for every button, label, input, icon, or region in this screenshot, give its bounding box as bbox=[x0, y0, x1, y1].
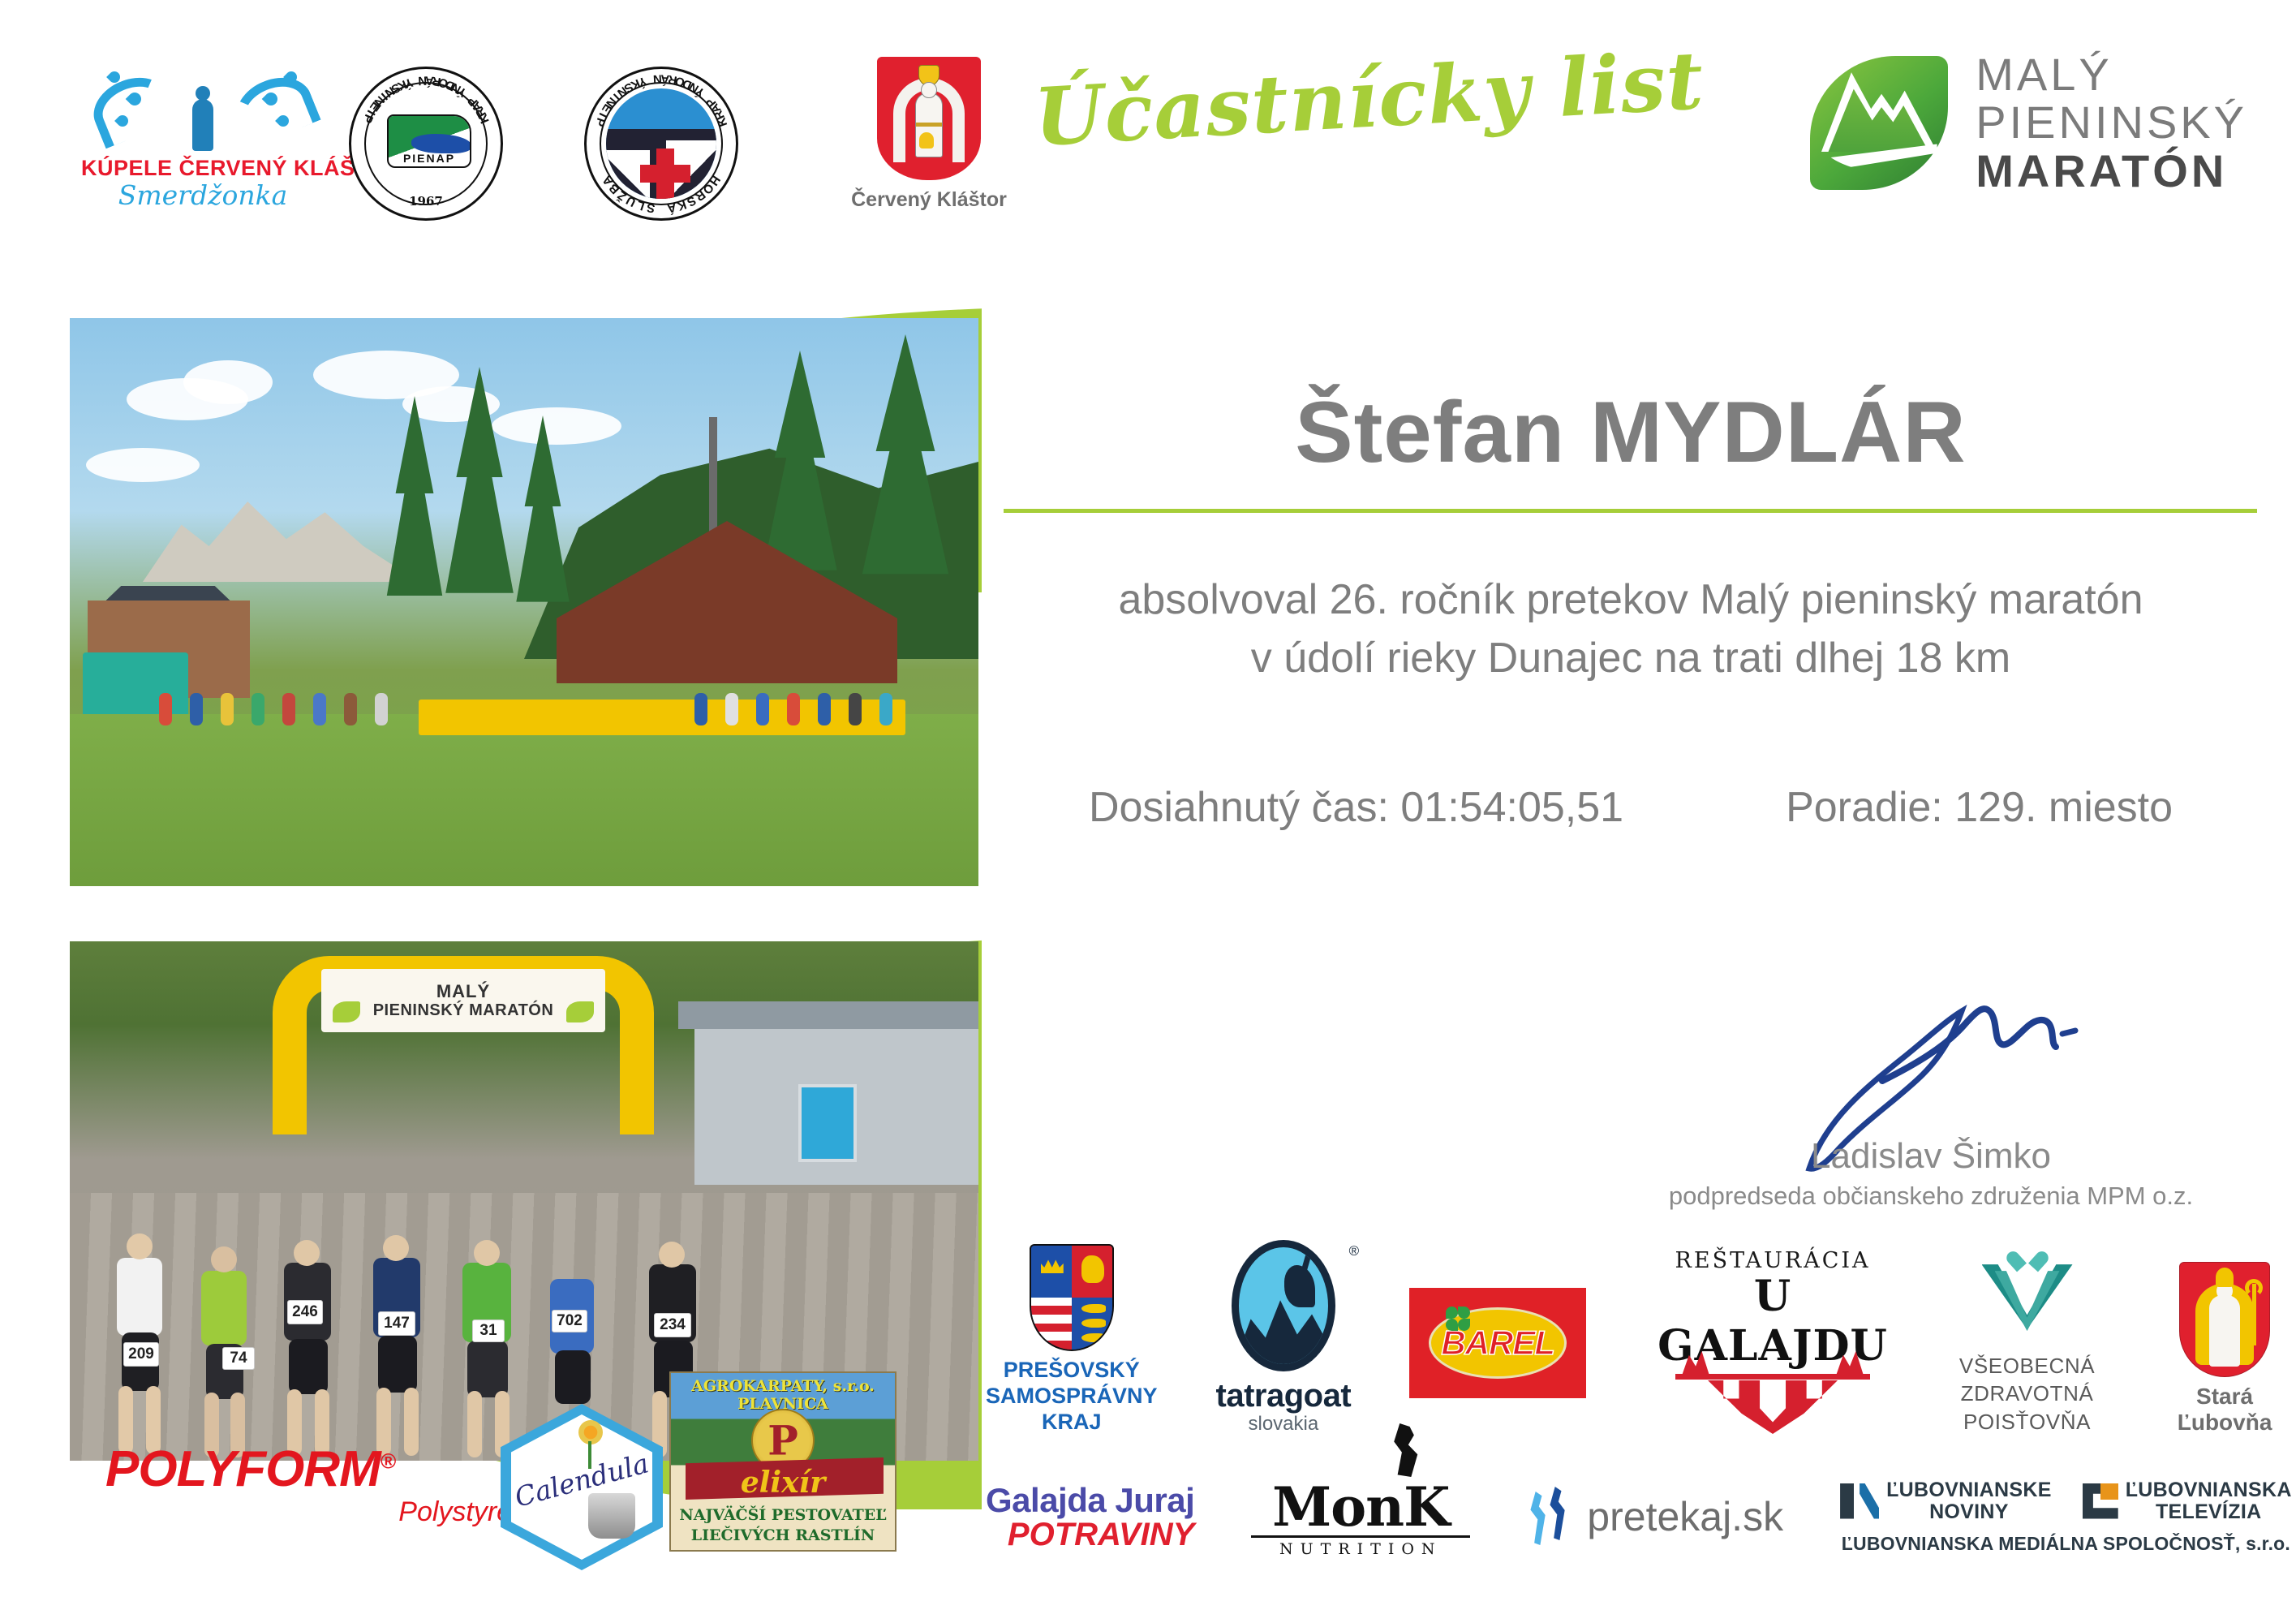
monk-wordmark: MonK bbox=[1251, 1475, 1470, 1539]
spa-wings-icon bbox=[81, 65, 325, 153]
folk-ornament-icon bbox=[1675, 1374, 1870, 1436]
page-title: Účastnícky list bbox=[1032, 34, 1706, 165]
pretekaj-wordmark: pretekaj.sk bbox=[1587, 1493, 1783, 1540]
ln-line-2: NOVINY bbox=[1886, 1501, 2052, 1523]
logo-obec-cerveny-klastor: Červený Kláštor bbox=[836, 57, 1022, 212]
stara-lubovna-coat-of-arms-icon bbox=[2179, 1262, 2270, 1377]
galajdu-wordmark: U GALAJDU bbox=[1645, 1272, 1901, 1371]
stara-lubovna-label: Stará Ľubovňa bbox=[2153, 1384, 2296, 1436]
logo-kupele-cerveny-klastor: KÚPELE ČERVENÝ KLÁŠTOR Smerdžonka bbox=[81, 65, 325, 211]
signatory-role: podpredseda občianskeho združenia MPM o.… bbox=[1623, 1182, 2239, 1211]
mortar-icon bbox=[588, 1493, 635, 1539]
vszp-line-2: ZDRAVOTNÁ bbox=[1959, 1380, 2095, 1407]
bib-number: 31 bbox=[472, 1319, 505, 1342]
elixir-wordmark: elixír bbox=[671, 1466, 895, 1500]
sponsor-row-2: Galajda Juraj POTRAVINY MonK NUTRITION p… bbox=[986, 1475, 2292, 1558]
psk-line-3: KRAJ bbox=[986, 1410, 1158, 1436]
bib-number: 209 bbox=[123, 1342, 159, 1367]
sponsor-row-1: PREŠOVSKÝ SAMOSPRÁVNY KRAJ ® tatragoat s… bbox=[986, 1240, 2296, 1436]
rank: Poradie: 129. miesto bbox=[1786, 783, 2173, 832]
logo-restauracia-u-galajdu: REŠTAURÁCIA U GALAJDU bbox=[1645, 1248, 1901, 1436]
logo-polyform: POLYFORM® Polystyrén bbox=[105, 1440, 560, 1528]
ln-line-1: ĽUBOVNIANSKE bbox=[1886, 1479, 2052, 1501]
name-divider bbox=[1004, 509, 2257, 513]
pienap-seal-icon: PIENAP 1967 PIENINSKÝ NÁRODNÝ PARK bbox=[349, 67, 503, 221]
finish-time-value: 01:54:05,51 bbox=[1400, 784, 1623, 831]
logo-presovsky-samospravny-kraj: PREŠOVSKÝ SAMOSPRÁVNY KRAJ bbox=[986, 1244, 1158, 1436]
signature-block: Ladislav Šimko podpredseda občianskeho z… bbox=[1623, 1006, 2239, 1211]
polyform-tagline: Polystyrén bbox=[105, 1496, 560, 1528]
bib-number: 246 bbox=[287, 1300, 323, 1324]
bib-number: 234 bbox=[654, 1313, 691, 1337]
finish-time: Dosiahnutý čas: 01:54:05,51 bbox=[1089, 783, 1623, 832]
lt-line-1: ĽUBOVNIANSKA bbox=[2126, 1479, 2292, 1501]
logo-barel: BAREL bbox=[1409, 1288, 1586, 1398]
agrokarpaty-foot-line2: LIEČIVÝCH RASTLÍN bbox=[671, 1526, 895, 1544]
kupele-title: KÚPELE ČERVENÝ KLÁŠTOR bbox=[81, 156, 325, 181]
agrokarpaty-title: AGROKARPATY, s.r.o. PLAVNICA bbox=[671, 1377, 895, 1413]
logo-vseobecna-zdravotna-poistovna: VŠEOBECNÁ ZDRAVOTNÁ POISŤOVŇA bbox=[1959, 1250, 2095, 1436]
logo-lubovnianske-noviny: ĽUBOVNIANSKE NOVINY bbox=[1840, 1479, 2052, 1523]
signatory-name: Ladislav Šimko bbox=[1623, 1136, 2239, 1177]
photo-panel: MALÝ PIENINSKÝ MARATÓN 209 bbox=[57, 243, 982, 1461]
logo-maly-pieninsky-maraton: MALÝ PIENINSKÝ MARATÓN bbox=[1810, 50, 2247, 195]
psk-line-2: SAMOSPRÁVNY bbox=[986, 1384, 1158, 1410]
start-arch-banner: MALÝ PIENINSKÝ MARATÓN bbox=[321, 969, 605, 1032]
kupele-subtitle: Smerdžonka bbox=[81, 179, 325, 211]
lms-footer: ĽUBOVNIANSKA MEDIÁLNA SPOLOČNOSŤ, s.r.o. bbox=[1842, 1533, 2290, 1555]
logo-horska-sluzba: PIENINSKÝ NÁRODNÝ PARKHORSKÁ SLUŽBA bbox=[584, 67, 738, 221]
vszp-chevron-heart-icon bbox=[1980, 1250, 2075, 1344]
bib-number: 74 bbox=[222, 1347, 255, 1370]
psk-coat-of-arms-icon bbox=[1030, 1244, 1114, 1351]
agrokarpaty-seal-letter: P bbox=[767, 1417, 798, 1465]
vszp-line-1: VŠEOBECNÁ bbox=[1959, 1352, 2095, 1380]
logo-pretekaj-sk: pretekaj.sk bbox=[1527, 1485, 1783, 1548]
photo-festival-grounds bbox=[70, 318, 978, 886]
clover-icon bbox=[1446, 1307, 1470, 1331]
rank-label: Poradie: bbox=[1786, 784, 1943, 831]
logo-tatragoat: ® tatragoat slovakia bbox=[1216, 1240, 1352, 1436]
partner-logo-strip: KÚPELE ČERVENÝ KLÁŠTOR Smerdžonka PIENAP… bbox=[81, 57, 957, 243]
logo-pienap: PIENAP 1967 PIENINSKÝ NÁRODNÝ PARK bbox=[349, 67, 503, 221]
logo-galajda-juraj-potraviny: Galajda Juraj POTRAVINY bbox=[986, 1481, 1194, 1553]
brand-line-1: MALÝ bbox=[1976, 50, 2247, 98]
logo-monk-nutrition: MonK NUTRITION bbox=[1251, 1475, 1470, 1558]
logo-agrokarpaty-elixir: AGROKARPATY, s.r.o. PLAVNICA P elixír NA… bbox=[669, 1371, 896, 1552]
runners-icon bbox=[1527, 1485, 1579, 1548]
tatragoat-wordmark: tatragoat bbox=[1216, 1378, 1352, 1414]
bib-number: 702 bbox=[552, 1310, 587, 1332]
result-stats: Dosiahnutý čas: 01:54:05,51 Poradie: 129… bbox=[998, 783, 2264, 832]
lt-monogram-icon bbox=[2083, 1483, 2118, 1519]
logo-lubovnianska-televizia: ĽUBOVNIANSKA TELEVÍZIA bbox=[2083, 1479, 2292, 1523]
monk-tagline: NUTRITION bbox=[1251, 1540, 1470, 1558]
certificate-page: KÚPELE ČERVENÝ KLÁŠTOR Smerdžonka PIENAP… bbox=[0, 0, 2296, 1623]
polyform-wordmark: POLYFORM bbox=[105, 1441, 381, 1497]
vszp-line-3: POISŤOVŇA bbox=[1959, 1408, 2095, 1436]
registered-mark-icon: ® bbox=[1349, 1243, 1360, 1259]
goat-mountain-icon bbox=[1232, 1240, 1335, 1371]
logo-stara-lubovna: Stará Ľubovňa bbox=[2153, 1262, 2296, 1436]
rank-value: 129. miesto bbox=[1954, 784, 2173, 831]
registered-mark-icon: ® bbox=[381, 1449, 395, 1473]
lt-line-2: TELEVÍZIA bbox=[2126, 1501, 2292, 1523]
arch-banner-line1: MALÝ bbox=[436, 981, 490, 1001]
klastor-label: Červený Kláštor bbox=[836, 188, 1022, 212]
mountain-leaf-icon bbox=[1810, 56, 1948, 190]
coat-of-arms-icon bbox=[877, 57, 981, 180]
description-line-1: absolvoval 26. ročník pretekov Malý pien… bbox=[998, 571, 2264, 630]
finish-time-label: Dosiahnutý čas: bbox=[1089, 784, 1389, 831]
agrokarpaty-foot-line1: NAJVÄČŠÍ PESTOVATEĽ bbox=[671, 1506, 895, 1524]
horska-sluzba-seal-icon: PIENINSKÝ NÁRODNÝ PARKHORSKÁ SLUŽBA bbox=[584, 67, 738, 221]
logo-calendula: Calendula bbox=[501, 1404, 663, 1570]
certificate-description: absolvoval 26. ročník pretekov Malý pien… bbox=[998, 571, 2264, 688]
arch-banner-line2: PIENINSKÝ MARATÓN bbox=[373, 1001, 554, 1020]
brand-line-3: MARATÓN bbox=[1976, 147, 2247, 195]
galajda-juraj-tagline: POTRAVINY bbox=[986, 1517, 1194, 1553]
brand-line-2: PIENINSKÝ bbox=[1976, 98, 2247, 146]
bib-number: 147 bbox=[378, 1311, 415, 1336]
psk-line-1: PREŠOVSKÝ bbox=[986, 1358, 1158, 1384]
galajda-juraj-name: Galajda Juraj bbox=[986, 1481, 1194, 1520]
logo-lubovnianska-medialna-spolocnost: ĽUBOVNIANSKE NOVINY ĽUBOVNIANSKA TELEVÍZ… bbox=[1840, 1479, 2292, 1555]
ln-monogram-icon bbox=[1840, 1483, 1879, 1519]
galajdu-top-label: REŠTAURÁCIA bbox=[1645, 1248, 1901, 1273]
tatragoat-tagline: slovakia bbox=[1216, 1413, 1352, 1436]
description-line-2: v údolí rieky Dunajec na trati dlhej 18 … bbox=[998, 630, 2264, 688]
participant-name: Štefan MYDLÁR bbox=[998, 381, 2264, 482]
